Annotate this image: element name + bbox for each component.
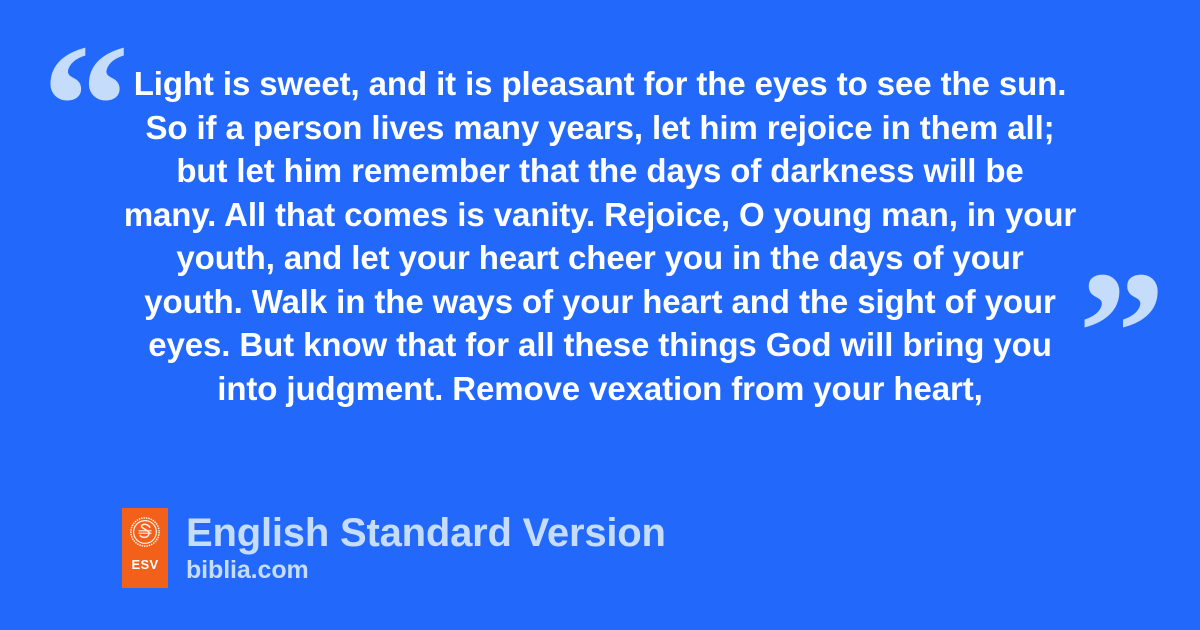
- site-name: biblia.com: [186, 556, 666, 585]
- quote-line: youth. Walk in the ways of your heart an…: [100, 280, 1100, 324]
- esv-logo: ESV: [122, 508, 168, 588]
- esv-seal-icon: [130, 517, 160, 547]
- quote-text-block: Light is sweet, and it is pleasant for t…: [100, 62, 1100, 410]
- bible-version-name: English Standard Version: [186, 510, 666, 556]
- esv-logo-label: ESV: [132, 558, 159, 571]
- bible-verse-card: “ Light is sweet, and it is pleasant for…: [0, 0, 1200, 630]
- quote-line: many. All that comes is vanity. Rejoice,…: [100, 193, 1100, 237]
- quote-line: Light is sweet, and it is pleasant for t…: [100, 62, 1100, 106]
- closing-quote-icon: ”: [1078, 245, 1168, 420]
- quote-line: eyes. But know that for all these things…: [100, 323, 1100, 367]
- quote-line: into judgment. Remove vexation from your…: [100, 367, 1100, 411]
- quote-line: youth, and let your heart cheer you in t…: [100, 236, 1100, 280]
- attribution-text: English Standard Version biblia.com: [186, 508, 666, 585]
- attribution: ESV English Standard Version biblia.com: [122, 508, 666, 588]
- quote-line: So if a person lives many years, let him…: [100, 106, 1100, 150]
- quote-line: but let him remember that the days of da…: [100, 149, 1100, 193]
